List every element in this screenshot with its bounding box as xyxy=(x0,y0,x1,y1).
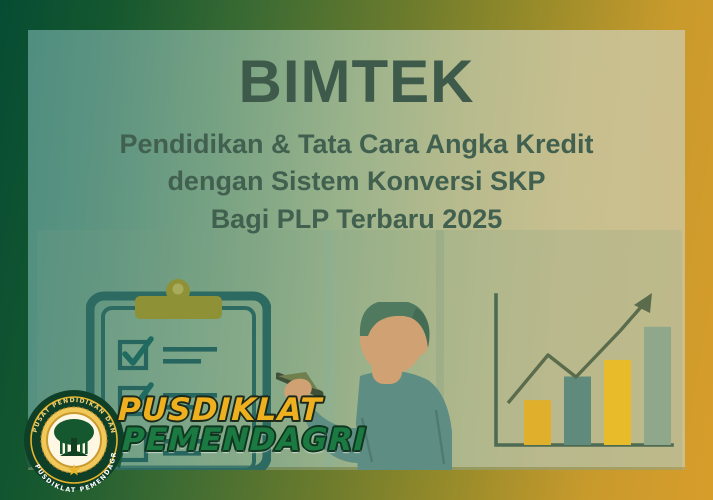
pusdiklat-emblem-logo: PUSAT PENDIDIKAN DAN PELATIHAN PEMERINTA… xyxy=(22,388,126,492)
chart-bar xyxy=(644,327,671,445)
chart-bar xyxy=(604,360,631,445)
chart-bar xyxy=(564,377,591,446)
poster-heading-block: BIMTEK Pendidikan & Tata Cara Angka Kred… xyxy=(28,30,685,238)
chart-bar xyxy=(524,400,551,445)
poster-subtitle-line-3: Bagi PLP Terbaru 2025 xyxy=(28,201,685,238)
pusdiklat-wordmark: PUSDIKLAT PEMENDAGRI xyxy=(118,396,366,456)
poster-subtitle-line-2: dengan Sistem Konversi SKP xyxy=(28,163,685,200)
ear xyxy=(412,333,428,355)
poster-subtitle-block: Pendidikan & Tata Cara Angka Kredit deng… xyxy=(28,112,685,238)
text-line xyxy=(163,347,217,352)
wordmark-line-pemendagri: PEMENDAGRI xyxy=(117,426,366,456)
clipboard-clip-icon xyxy=(135,279,222,319)
bar-chart-illustration xyxy=(484,285,678,470)
poster-canvas: BIMTEK Pendidikan & Tata Cara Angka Kred… xyxy=(0,0,713,500)
poster-subtitle-line-1: Pendidikan & Tata Cara Angka Kredit xyxy=(28,126,685,163)
poster-main-title: BIMTEK xyxy=(28,30,685,112)
text-line xyxy=(163,359,201,364)
